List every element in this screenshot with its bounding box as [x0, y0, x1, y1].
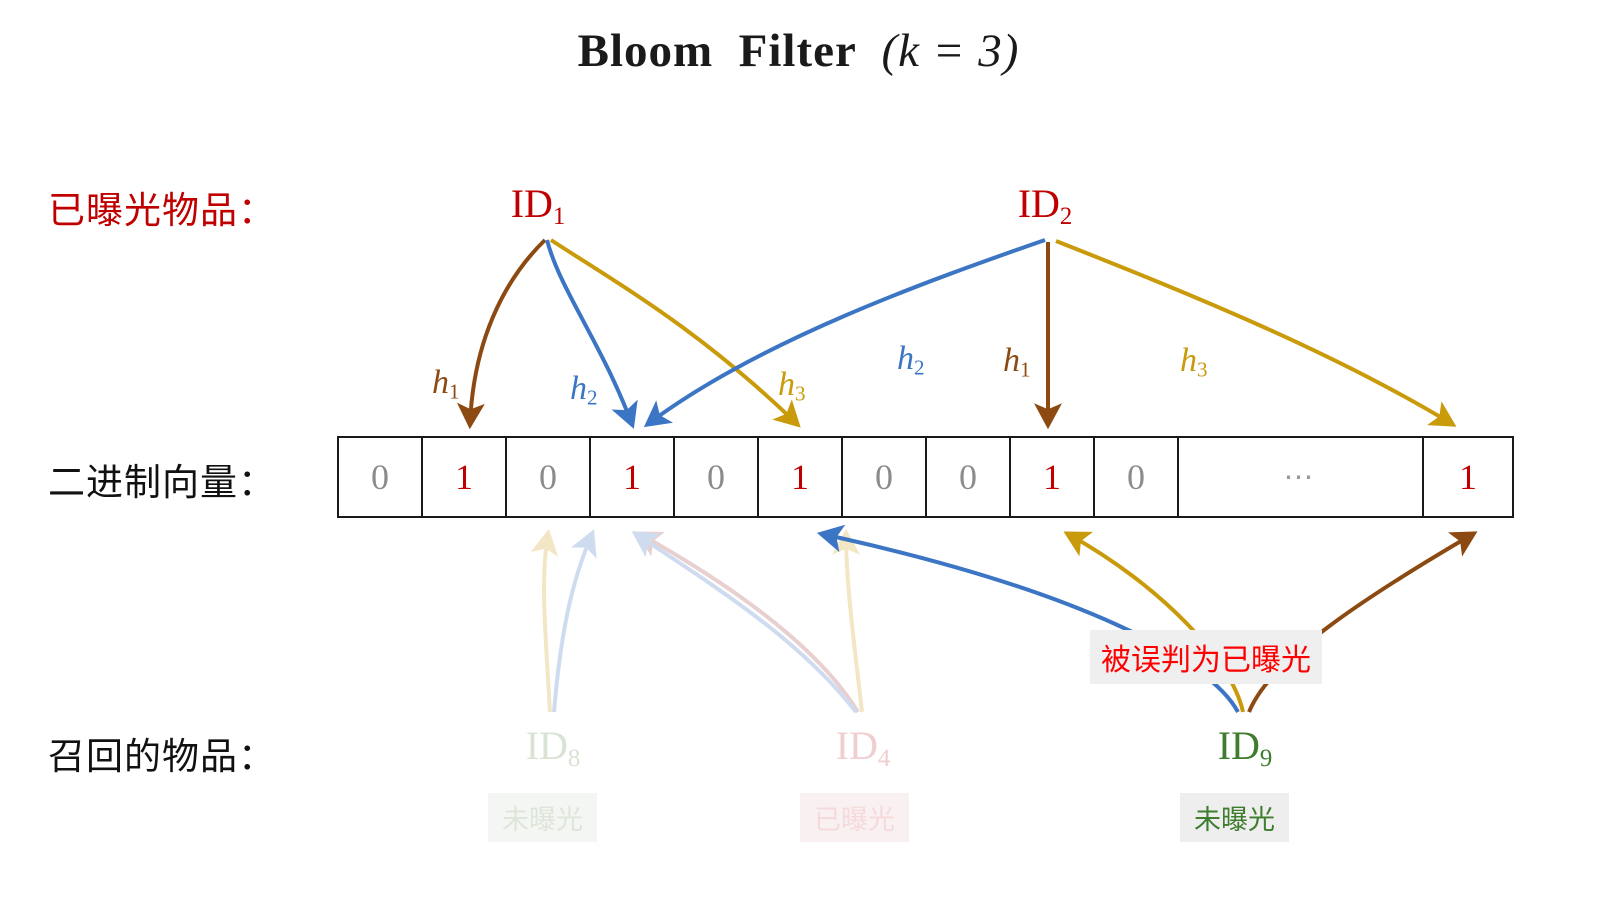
hash-label-id1-h1-sub: 1 [449, 379, 460, 403]
exposed-item-id2: ID2 [975, 180, 1115, 231]
arrow-id9-probe-blue [822, 534, 1238, 712]
title-main: Bloom Filter [578, 25, 882, 77]
hash-label-id2-h2-name: h [897, 340, 914, 377]
hash-label-id2-h2: h2 [897, 340, 925, 380]
bit-cell-5: 1 [759, 438, 843, 516]
bit-cell-2: 0 [507, 438, 591, 516]
recalled-item-id8: ID8 [483, 722, 623, 773]
exposed-items-row-label: 已曝光物品： [48, 180, 276, 234]
arrow-id4-probe-2 [846, 534, 862, 712]
hash-label-id2-h2-sub: 2 [914, 355, 925, 379]
bit-cell-8: 1 [1011, 438, 1095, 516]
status-badge-id8: 未曝光 [488, 793, 597, 842]
bit-cell-9: 0 [1095, 438, 1179, 516]
hash-label-id1-h1-name: h [432, 364, 449, 401]
recalled-item-id9: ID9 [1175, 722, 1315, 773]
id2-name: ID [1018, 181, 1060, 226]
id8-name: ID [526, 723, 568, 768]
bit-cell-3: 1 [591, 438, 675, 516]
id8-subscript: 8 [568, 745, 580, 772]
hash-label-id1-h3-name: h [778, 366, 795, 403]
hash-label-id2-h3-name: h [1180, 342, 1197, 379]
recalled-items-row-label: 召回的物品： [48, 726, 276, 780]
bit-vector-row-label: 二进制向量： [48, 452, 276, 506]
hash-label-id2-h3: h3 [1180, 342, 1208, 382]
id2-subscript: 2 [1060, 203, 1072, 230]
hash-label-id2-h1-name: h [1003, 342, 1020, 379]
bit-cell-6: 0 [843, 438, 927, 516]
arrow-id2-h3 [1056, 241, 1452, 424]
bit-cell-1: 1 [423, 438, 507, 516]
arrow-id4-probe-3 [636, 534, 856, 712]
id9-subscript: 9 [1260, 745, 1272, 772]
arrow-id2-h2 [648, 240, 1045, 424]
page-title: Bloom Filter (k = 3) [0, 24, 1597, 78]
bit-cell-last: 1 [1424, 438, 1512, 516]
title-parameter: (k = 3) [882, 25, 1020, 77]
arrow-id1-h1 [470, 240, 545, 424]
status-badge-id4: 已曝光 [800, 793, 909, 842]
hash-label-id1-h2: h2 [570, 370, 598, 410]
id4-subscript: 4 [878, 745, 890, 772]
diagram-canvas: Bloom Filter (k = 3) 已曝光物品： 二进制向量： 召回的物品… [0, 0, 1597, 897]
id9-name: ID [1218, 723, 1260, 768]
false-positive-callout: 被误判为已曝光 [1090, 630, 1322, 684]
arrow-id8-probe-1 [544, 534, 550, 712]
bit-cell-ellipsis: ⋯ [1179, 438, 1424, 516]
bit-vector: 0 1 0 1 0 1 0 0 1 0 ⋯ 1 [337, 436, 1514, 518]
id1-name: ID [511, 181, 553, 226]
hash-label-id1-h2-name: h [570, 370, 587, 407]
hash-label-id2-h3-sub: 3 [1197, 357, 1208, 381]
hash-label-id1-h1: h1 [432, 364, 460, 404]
bit-cell-7: 0 [927, 438, 1011, 516]
exposed-item-id1: ID1 [468, 180, 608, 231]
arrow-id8-probe-2 [554, 534, 592, 712]
id1-subscript: 1 [553, 203, 565, 230]
hash-label-id2-h1-sub: 1 [1020, 357, 1031, 381]
arrow-id4-probe-1 [640, 534, 858, 712]
status-badge-id9: 未曝光 [1180, 793, 1289, 842]
arrow-id9-probe-brown [1249, 534, 1473, 712]
hash-label-id1-h3-sub: 3 [795, 381, 806, 405]
bit-cell-4: 0 [675, 438, 759, 516]
bit-cell-0: 0 [339, 438, 423, 516]
hash-label-id1-h2-sub: 2 [587, 385, 598, 409]
hash-label-id2-h1: h1 [1003, 342, 1031, 382]
id4-name: ID [836, 723, 878, 768]
hash-label-id1-h3: h3 [778, 366, 806, 406]
arrow-id9-probe-gold [1068, 534, 1243, 712]
recalled-item-id4: ID4 [793, 722, 933, 773]
